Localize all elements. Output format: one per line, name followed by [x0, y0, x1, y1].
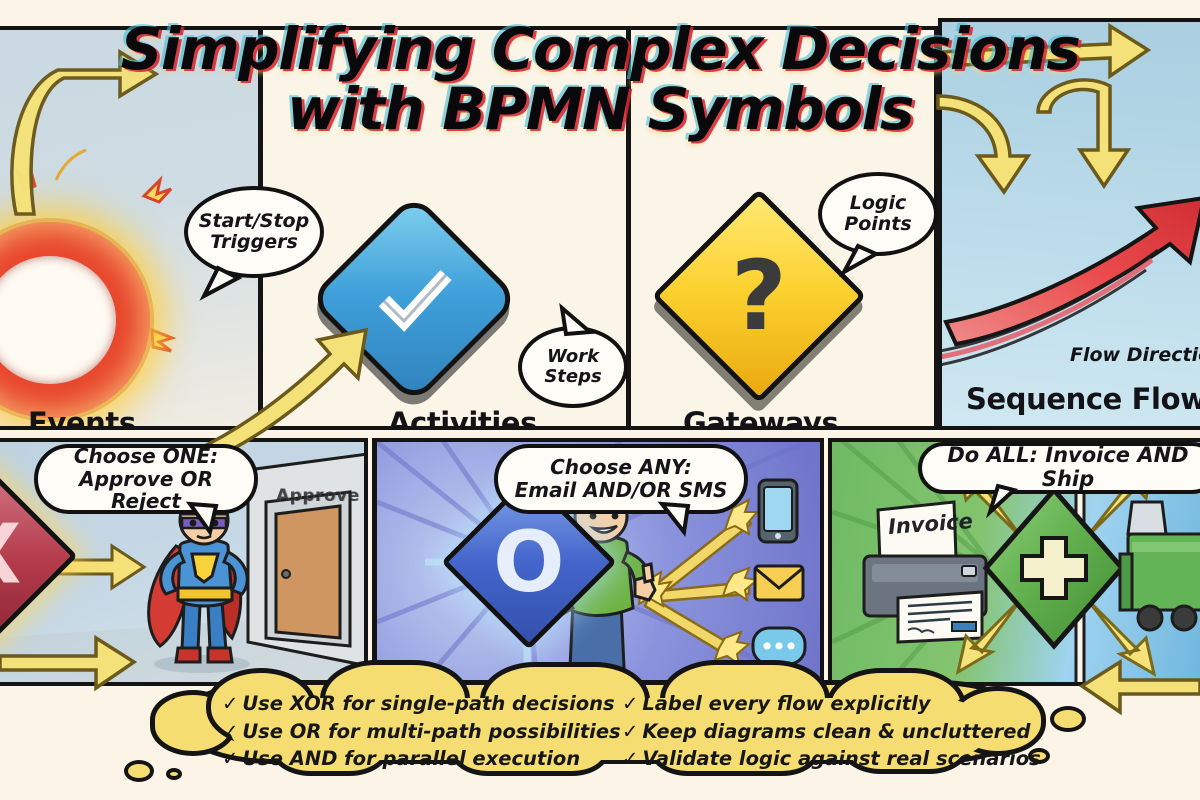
- envelope-icon: [755, 566, 803, 600]
- tip-item: ✓Validate logic against real scenarios: [622, 745, 1041, 773]
- bubble-tail: [654, 502, 704, 536]
- check-icon: ✓: [222, 747, 238, 770]
- check-icon: ✓: [222, 720, 238, 743]
- bubble-line: Email AND/OR SMS: [515, 479, 728, 502]
- tip-item: ✓Label every flow explicitly: [622, 690, 1041, 718]
- bubble-line: Start/Stop: [199, 211, 309, 232]
- invoice-label: Invoice: [887, 509, 973, 539]
- tips-left-column: ✓Use XOR for single-path decisions ✓Use …: [222, 690, 621, 773]
- flow-direction-sublabel: Flow Direction: [1070, 344, 1200, 366]
- tip-item: ✓Use XOR for single-path decisions: [222, 690, 621, 718]
- xor-glyph: X: [0, 515, 22, 597]
- bubble-choose-any: Choose ANY: Email AND/OR SMS: [494, 444, 748, 514]
- red-speed-arrow-icon: [942, 22, 1200, 430]
- bubble-tail: [980, 484, 1026, 514]
- bubble-line: Triggers: [199, 232, 309, 253]
- check-icon: ✓: [622, 747, 638, 770]
- tips-right-column: ✓Label every flow explicitly ✓Keep diagr…: [622, 690, 1041, 773]
- question-glyph: ?: [731, 248, 787, 344]
- sequence-flows-label: Sequence Flows: [966, 382, 1200, 416]
- bubble-line: Do ALL: Invoice AND Ship: [938, 444, 1198, 492]
- phone-icon: [759, 480, 797, 542]
- panel-sequence: Flow Direction Sequence Flows: [938, 18, 1200, 430]
- check-icon: ✓: [622, 692, 638, 715]
- bubble-tail: [836, 244, 882, 276]
- bubble-tail: [180, 502, 230, 536]
- cloud-puff-tiny: [166, 768, 182, 780]
- activities-label: Activities: [388, 406, 537, 430]
- checkmark-diamond-icon: [308, 193, 520, 405]
- or-glyph: O: [493, 520, 564, 604]
- bubble-line: Choose ANY:: [515, 456, 728, 479]
- bubble-tail: [198, 266, 248, 300]
- bubble-line: Work: [544, 347, 601, 367]
- events-label: Events: [28, 406, 136, 430]
- infographic-canvas: Events Activities ? Gateways: [0, 0, 1200, 800]
- event-ring-icon: [0, 222, 150, 418]
- bubble-line: Points: [844, 214, 911, 235]
- cloud-puff-small: [124, 760, 154, 782]
- bubble-start-stop-triggers: Start/Stop Triggers: [184, 186, 324, 278]
- bubble-choose-one: Choose ONE: Approve OR Reject: [34, 444, 258, 514]
- bubble-line: Steps: [544, 367, 601, 387]
- tip-item: ✓Use AND for parallel execution: [222, 745, 621, 773]
- door-sign-label: Approve: [276, 486, 360, 506]
- cloud-puff-right: [1050, 706, 1086, 732]
- bubble-line: Choose ONE:: [54, 445, 238, 468]
- bubble-line: Logic: [844, 193, 911, 214]
- bubble-tail: [552, 308, 598, 338]
- check-icon: ✓: [222, 692, 238, 715]
- gateways-label: Gateways: [683, 406, 838, 430]
- bubble-logic-points: Logic Points: [818, 172, 938, 256]
- bubble-do-all: Do ALL: Invoice AND Ship: [918, 442, 1200, 494]
- tip-item: ✓Keep diagrams clean & uncluttered: [622, 718, 1041, 746]
- tip-item: ✓Use OR for multi-path possibilities: [222, 718, 621, 746]
- bubble-work-steps: Work Steps: [518, 326, 628, 408]
- check-glyph: [366, 251, 462, 347]
- check-icon: ✓: [622, 720, 638, 743]
